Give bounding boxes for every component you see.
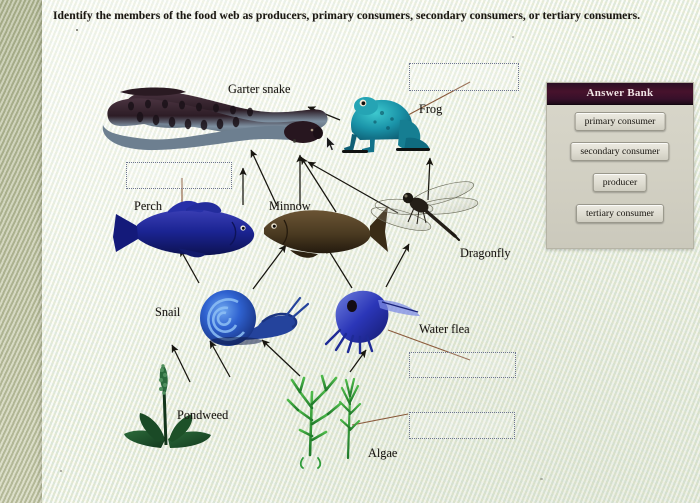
- label-algae: Algae: [368, 446, 397, 461]
- label-minnow: Minnow: [269, 199, 311, 214]
- mouse-cursor: [326, 136, 337, 152]
- answer-tile-tertiary-consumer[interactable]: tertiary consumer: [576, 204, 664, 223]
- drop-zone-water-flea[interactable]: [409, 352, 516, 378]
- answer-bank-title: Answer Bank: [547, 83, 693, 105]
- label-pondweed: Pondweed: [177, 408, 228, 423]
- label-garter-snake: Garter snake: [228, 82, 290, 97]
- food-web-arrows: [0, 0, 700, 503]
- worksheet-screenshot: Identify the members of the food web as …: [0, 0, 700, 503]
- dragonfly-image: [369, 177, 479, 240]
- drop-zone-perch[interactable]: [126, 162, 232, 189]
- label-water-flea: Water flea: [419, 322, 470, 337]
- snail-image: [200, 290, 308, 346]
- label-perch: Perch: [134, 199, 162, 214]
- frog-image: [342, 97, 430, 153]
- photo-speck: [512, 36, 514, 38]
- photo-speck: [293, 139, 296, 143]
- drop-zone-frog[interactable]: [409, 63, 519, 91]
- label-dragonfly: Dragonfly: [460, 246, 511, 261]
- answer-bank-panel: Answer Bank primary consumer secondary c…: [546, 82, 694, 249]
- waterflea-image: [326, 291, 420, 353]
- answer-tile-primary-consumer[interactable]: primary consumer: [575, 112, 666, 131]
- answer-tile-secondary-consumer[interactable]: secondary consumer: [570, 142, 669, 161]
- algae-image: [288, 376, 360, 468]
- photo-speck: [76, 29, 78, 31]
- label-frog: Frog: [419, 102, 442, 117]
- photo-speck: [540, 478, 543, 480]
- answer-tile-producer[interactable]: producer: [593, 173, 647, 192]
- label-snail: Snail: [155, 305, 180, 320]
- photo-speck: [60, 470, 62, 472]
- drop-zone-algae[interactable]: [409, 412, 515, 439]
- pondweed-image: [124, 364, 211, 448]
